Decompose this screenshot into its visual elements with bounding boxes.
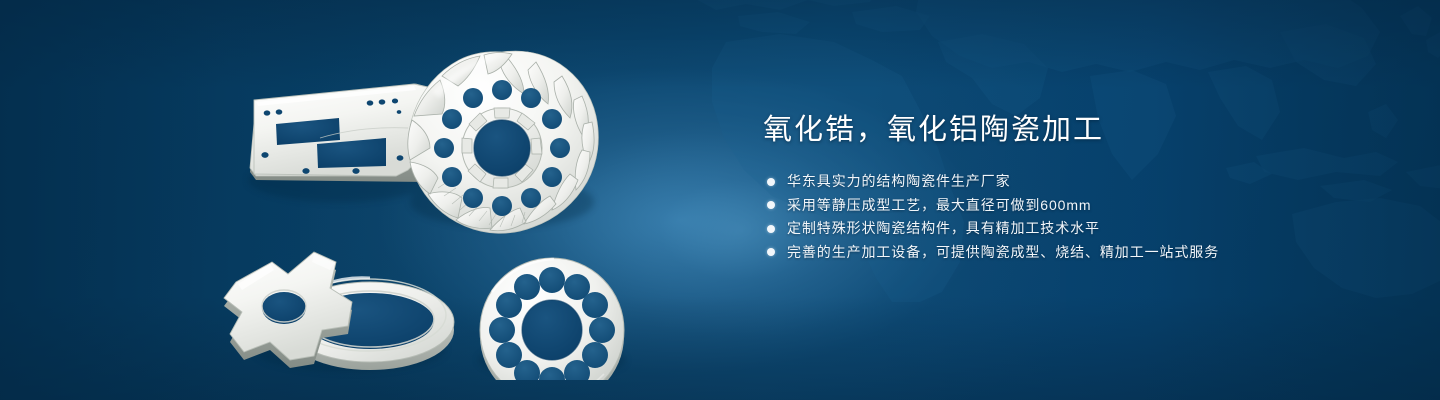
page-title: 氧化锆，氧化铝陶瓷加工 — [763, 112, 1383, 148]
hero-banner: 氧化锆，氧化铝陶瓷加工 华东具实力的结构陶瓷件生产厂家 采用等静压成型工艺，最大… — [0, 0, 1440, 400]
bullet-dot-icon — [767, 201, 775, 209]
list-item-label: 华东具实力的结构陶瓷件生产厂家 — [787, 170, 1011, 193]
banner-copy: 氧化锆，氧化铝陶瓷加工 华东具实力的结构陶瓷件生产厂家 采用等静压成型工艺，最大… — [763, 112, 1383, 264]
list-item: 华东具实力的结构陶瓷件生产厂家 — [767, 170, 1383, 193]
ceramic-plate-part — [250, 84, 434, 182]
list-item-label: 采用等静压成型工艺，最大直径可做到600mm — [787, 194, 1091, 217]
list-item-label: 定制特殊形状陶瓷结构件，具有精加工技术水平 — [787, 217, 1100, 240]
list-item-label: 完善的生产加工设备，可提供陶瓷成型、烧结、精加工一站式服务 — [787, 241, 1219, 264]
feature-list: 华东具实力的结构陶瓷件生产厂家 采用等静压成型工艺，最大直径可做到600mm 定… — [767, 170, 1383, 264]
list-item: 定制特殊形状陶瓷结构件，具有精加工技术水平 — [767, 217, 1383, 240]
ceramic-hole-disc-part — [480, 258, 624, 380]
bullet-dot-icon — [767, 248, 775, 256]
bullet-dot-icon — [767, 225, 775, 233]
ceramic-products-image — [210, 30, 730, 380]
list-item: 完善的生产加工设备，可提供陶瓷成型、烧结、精加工一站式服务 — [767, 241, 1383, 264]
list-item: 采用等静压成型工艺，最大直径可做到600mm — [767, 194, 1383, 217]
bullet-dot-icon — [767, 178, 775, 186]
